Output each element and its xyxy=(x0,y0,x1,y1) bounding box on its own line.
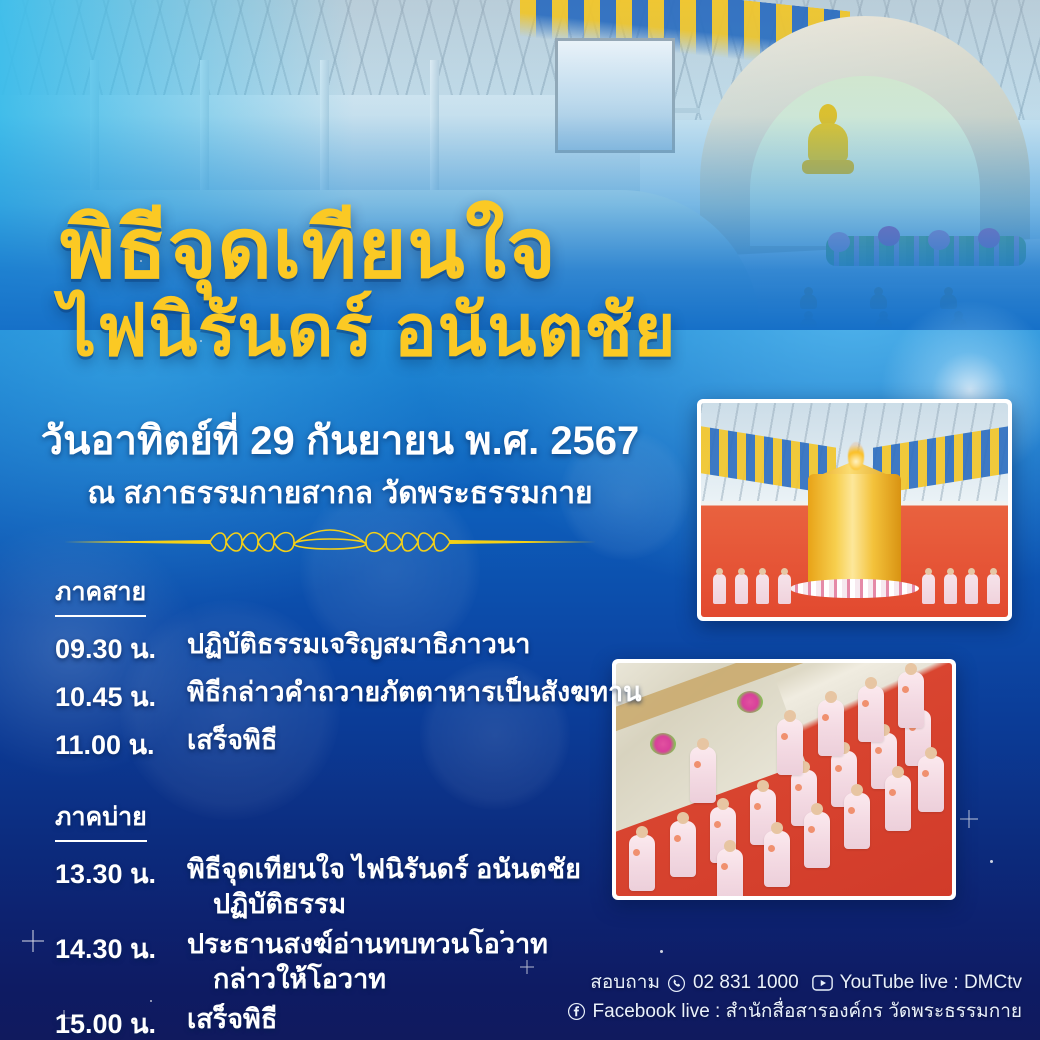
schedule-block: ภาคสาย 09.30 น. ปฏิบัติธรรมเจริญสมาธิภาว… xyxy=(55,572,655,1040)
event-date: วันอาทิตย์ที่ 29 กันยายน พ.ศ. 2567 xyxy=(40,418,640,464)
row-desc: เสร็จพิธี xyxy=(187,1002,277,1037)
row-time: 11.00 น. xyxy=(55,723,187,766)
sparkle xyxy=(660,950,663,953)
ornamental-divider xyxy=(60,522,600,562)
schedule-row: 14.30 น. ประธานสงฆ์อ่านทบทวนโอวาท กล่าวใ… xyxy=(55,927,655,997)
schedule-row: 13.30 น. พิธีจุดเทียนใจ ไฟนิรันดร์ อนันต… xyxy=(55,852,655,922)
poster-title: พิธีจุดเทียนใจ ไฟนิรันดร์ อนันตชัย xyxy=(60,205,676,369)
schedule-row: 15.00 น. เสร็จพิธี xyxy=(55,1002,655,1040)
sparkle-star xyxy=(22,930,44,952)
row-desc: พิธีกล่าวคำถวายภัตตาหารเป็นสังฆทาน xyxy=(187,675,642,710)
title-line-1: พิธีจุดเทียนใจ xyxy=(60,205,676,292)
event-poster: พิธีจุดเทียนใจ ไฟนิรันดร์ อนันตชัย วันอา… xyxy=(0,0,1040,1040)
facebook-icon xyxy=(567,1002,586,1021)
phone-number[interactable]: 02 831 1000 xyxy=(693,969,799,998)
row-time: 09.30 น. xyxy=(55,627,187,670)
row-desc-main: พิธีจุดเทียนใจ ไฟนิรันดร์ อนันตชัย xyxy=(187,854,581,884)
schedule-row: 11.00 น. เสร็จพิธี xyxy=(55,723,655,766)
footer-row-phone-youtube: สอบถาม 02 831 1000 YouTube live : DMCtv xyxy=(567,969,1022,998)
row-desc: เสร็จพิธี xyxy=(187,723,277,758)
youtube-label[interactable]: YouTube live : DMCtv xyxy=(840,969,1022,998)
row-time: 14.30 น. xyxy=(55,927,187,970)
footer-contact: สอบถาม 02 831 1000 YouTube live : DMCtv xyxy=(567,969,1022,1026)
golden-lamp-ceremony-photo xyxy=(697,399,1012,621)
sparkle-star xyxy=(960,810,978,828)
row-desc: พิธีจุดเทียนใจ ไฟนิรันดร์ อนันตชัย ปฏิบั… xyxy=(187,852,581,922)
row-desc-cont: กล่าวให้โอวาท xyxy=(187,962,548,997)
date-venue-block: วันอาทิตย์ที่ 29 กันยายน พ.ศ. 2567 ณ สภา… xyxy=(40,418,640,517)
row-desc-main: ประธานสงฆ์อ่านทบทวนโอวาท xyxy=(187,929,548,959)
facebook-label[interactable]: Facebook live : สำนักสื่อสารองค์กร วัดพร… xyxy=(593,998,1022,1027)
schedule-row: 10.45 น. พิธีกล่าวคำถวายภัตตาหารเป็นสังฆ… xyxy=(55,675,655,718)
row-time: 10.45 น. xyxy=(55,675,187,718)
schedule-section-morning: ภาคสาย 09.30 น. ปฏิบัติธรรมเจริญสมาธิภาว… xyxy=(55,572,655,766)
phone-icon xyxy=(667,974,686,993)
devotee-procession-photo xyxy=(612,659,956,900)
section-heading-morning: ภาคสาย xyxy=(55,572,146,617)
youtube-icon xyxy=(812,975,833,991)
schedule-section-afternoon: ภาคบ่าย 13.30 น. พิธีจุดเทียนใจ ไฟนิรันด… xyxy=(55,797,655,1040)
enquiry-label: สอบถาม xyxy=(590,969,660,998)
title-line-2: ไฟนิรันดร์ อนันตชัย xyxy=(60,294,676,369)
event-venue: ณ สภาธรรมกายสากล วัดพระธรรมกาย xyxy=(40,470,640,517)
footer-row-facebook: Facebook live : สำนักสื่อสารองค์กร วัดพร… xyxy=(567,998,1022,1027)
row-desc: ปฏิบัติธรรมเจริญสมาธิภาวนา xyxy=(187,627,530,662)
section-heading-afternoon: ภาคบ่าย xyxy=(55,797,147,842)
row-desc-cont: ปฏิบัติธรรม xyxy=(187,887,581,922)
row-time: 15.00 น. xyxy=(55,1002,187,1040)
schedule-row: 09.30 น. ปฏิบัติธรรมเจริญสมาธิภาวนา xyxy=(55,627,655,670)
sparkle xyxy=(990,860,993,863)
row-desc: ประธานสงฆ์อ่านทบทวนโอวาท กล่าวให้โอวาท xyxy=(187,927,548,997)
row-time: 13.30 น. xyxy=(55,852,187,895)
